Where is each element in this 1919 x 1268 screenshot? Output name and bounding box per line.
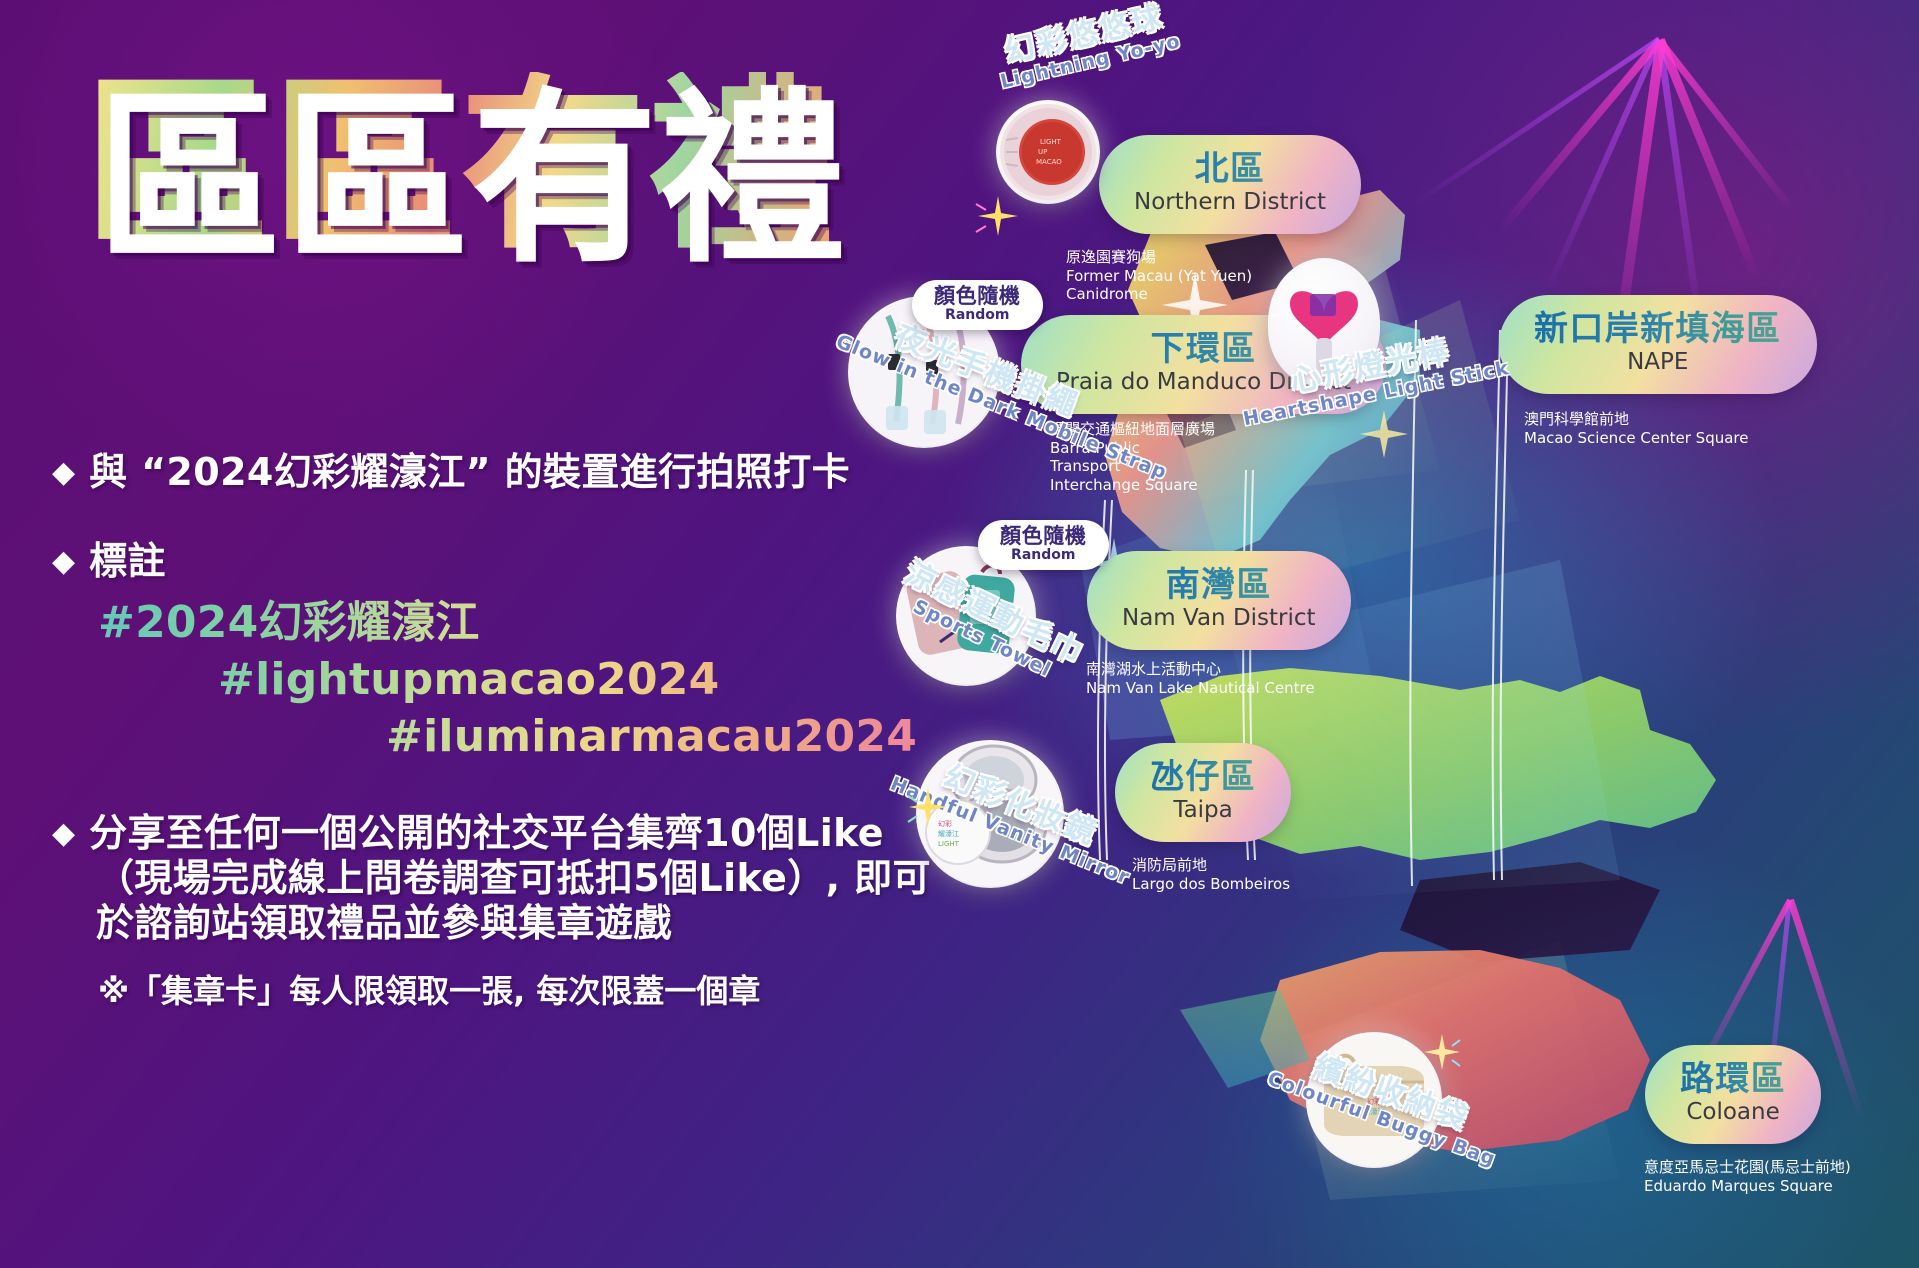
district-name-zh: 南灣區 — [1122, 566, 1316, 604]
venue-name-zh: 南灣湖水上活動中心 — [1086, 660, 1315, 679]
venue-namvan: 南灣湖水上活動中心 Nam Van Lake Nautical Centre — [1086, 660, 1315, 697]
yoyo-illustration: LIGHTUPMACAO — [996, 100, 1100, 204]
poster-title: 區區有禮 區區有禮 — [96, 86, 856, 316]
svg-text:LIGHT: LIGHT — [938, 840, 960, 848]
district-name-en: NAPE — [1534, 349, 1782, 377]
venue-northern: 原逸園賽狗場 Former Macau (Yat Yuen) Canidrome — [1066, 248, 1252, 304]
venue-name-en-1: Largo dos Bombeiros — [1132, 875, 1290, 894]
random-badge-manduco: 顏色隨機 Random — [912, 280, 1043, 330]
svg-text:UP: UP — [1038, 148, 1047, 156]
venue-name-en-1: Eduardo Marques Square — [1644, 1177, 1851, 1196]
district-name-en: Northern District — [1134, 189, 1326, 217]
random-badge-namvan: 顏色隨機 Random — [978, 520, 1109, 570]
badge-label-en: Random — [934, 308, 1021, 323]
venue-name-en-2: Canidrome — [1066, 285, 1252, 304]
district-name-en: Nam Van District — [1122, 605, 1316, 633]
district-name-zh: 氹仔區 — [1150, 758, 1256, 796]
venue-name-en-1: Nam Van Lake Nautical Centre — [1086, 679, 1315, 698]
district-pill-coloane[interactable]: 路環區 Coloane — [1650, 1050, 1816, 1139]
venue-coloane: 意度亞馬忌士花園(馬忌士前地) Eduardo Marques Square — [1644, 1158, 1851, 1195]
badge-label-zh: 顏色隨機 — [934, 285, 1021, 308]
venue-nape: 澳門科學館前地 Macao Science Center Square — [1524, 410, 1749, 447]
gift-image-lightning-yoyo: LIGHTUPMACAO — [996, 100, 1100, 204]
svg-text:耀濠江: 耀濠江 — [938, 829, 959, 838]
district-name-en: Taipa — [1150, 797, 1256, 825]
district-name-zh: 新口岸新填海區 — [1534, 310, 1782, 348]
poster-title-text: 區區有禮 — [96, 86, 856, 272]
venue-name-en-1: Former Macau (Yat Yuen) — [1066, 267, 1252, 286]
district-pill-namvan[interactable]: 南灣區 Nam Van District — [1092, 556, 1346, 645]
venue-name-zh: 澳門科學館前地 — [1524, 410, 1749, 429]
venue-name-zh: 原逸園賽狗場 — [1066, 248, 1252, 267]
venue-taipa: 消防局前地 Largo dos Bombeiros — [1132, 856, 1290, 893]
svg-text:MACAO: MACAO — [1036, 158, 1062, 166]
venue-name-zh: 意度亞馬忌士花園(馬忌士前地) — [1644, 1158, 1851, 1177]
poster-canvas: 區區有禮 區區有禮 ◆ 與 “2024幻彩耀濠江” 的裝置進行拍照打卡 ◆ 標註… — [0, 0, 1919, 1268]
venue-name-zh: 消防局前地 — [1132, 856, 1290, 875]
district-pill-nape[interactable]: 新口岸新填海區 NAPE — [1504, 300, 1812, 389]
svg-text:幻彩: 幻彩 — [938, 819, 952, 828]
district-pill-taipa[interactable]: 氹仔區 Taipa — [1120, 748, 1286, 837]
district-name-zh: 路環區 — [1680, 1060, 1786, 1098]
svg-text:LIGHT: LIGHT — [1040, 138, 1062, 146]
district-name-en: Coloane — [1680, 1099, 1786, 1127]
district-pill-northern[interactable]: 北區 Northern District — [1104, 140, 1356, 229]
district-name-zh: 北區 — [1134, 150, 1326, 188]
venue-name-en-3: Interchange Square — [1050, 476, 1215, 495]
badge-label-en: Random — [1000, 548, 1087, 563]
venue-name-en-1: Macao Science Center Square — [1524, 429, 1749, 448]
badge-label-zh: 顏色隨機 — [1000, 525, 1087, 548]
